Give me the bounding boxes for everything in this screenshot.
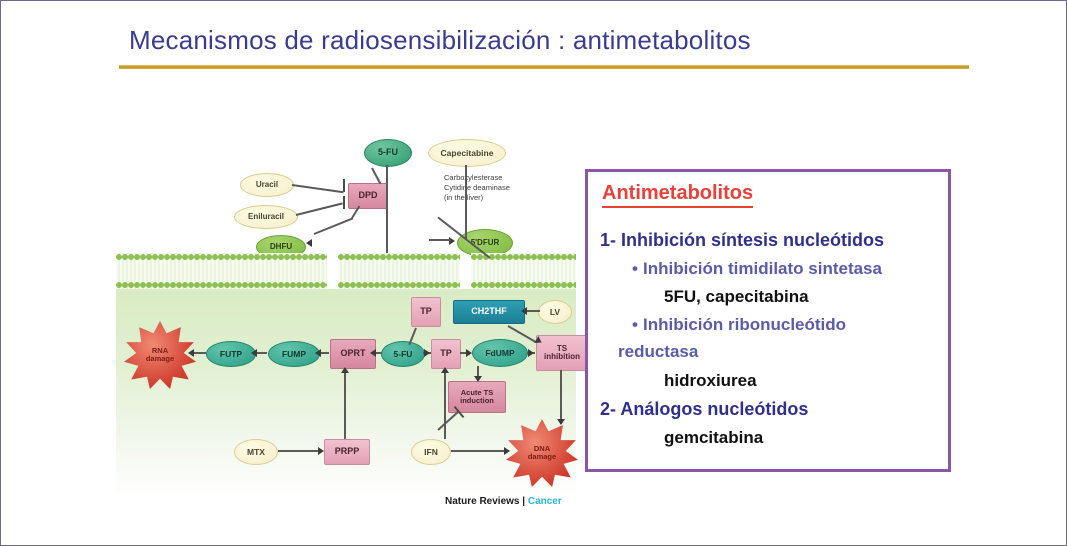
enzyme-note: Carboxylesterase Cytidine deaminase (in … [444,173,564,203]
node-lv: LV [538,300,572,324]
panel-line-6: hidroxiurea [664,371,757,391]
node-5fu-intracellular: 5-FU [381,341,425,367]
credit-journal: Cancer [528,496,562,507]
node-uracil: Uracil [240,173,294,197]
panel-line-1: 1- Inhibición síntesis nucleótidos [600,230,884,251]
membrane-segment-middle [338,253,460,289]
page-title: Mecanismos de radiosensibilización : ant… [129,25,751,56]
panel-line-4-text: Inhibición ribonucleótido [643,315,846,334]
node-ts-inhibition: TS inhibition [536,335,588,371]
cytoplasm-fade [116,461,576,499]
node-futp: FUTP [206,341,256,367]
panel-line-7: 2- Análogos nucleótidos [600,399,808,420]
node-fdump: FdUMP [472,339,528,367]
node-mtx: MTX [234,439,278,465]
slide-canvas: Mecanismos de radiosensibilización : ant… [0,0,1067,546]
panel-line-2-text: Inhibición timidilato sintetasa [643,259,882,278]
extracellular-space [116,81,576,253]
node-5fu-extracellular: 5-FU [364,139,412,167]
node-capecitabine: Capecitabine [428,139,506,167]
node-tp-mid: TP [431,339,461,369]
node-dpd: DPD [348,183,388,209]
node-eniluracil: Eniluracil [234,205,298,229]
node-ch2thf: CH2THF [453,300,525,324]
bullet-icon: • [632,259,643,279]
credit-publisher: Nature Reviews | [445,496,528,507]
bullet-icon: • [632,315,643,335]
panel-line-3: 5FU, capecitabina [664,287,809,307]
node-prpp: PRPP [324,439,370,465]
membrane-segment-left [116,253,327,289]
title-divider [119,65,969,69]
panel-line-2: •Inhibición timidilato sintetasa [632,259,882,279]
panel-line-8: gemcitabina [664,428,763,448]
panel-line-5: reductasa [618,342,698,362]
membrane-segment-right [471,253,576,289]
panel-heading: Antimetabolitos [602,182,753,208]
node-tp-upper: TP [411,297,441,327]
node-fump: FUMP [268,341,320,367]
panel-line-4: •Inhibición ribonucleótido [632,315,846,335]
pathway-diagram: 5-FU Capecitabine Uracil Eniluracil DHFU… [116,81,576,511]
figure-credit: Nature Reviews | Cancer [445,496,562,507]
node-ifn: IFN [411,439,451,465]
antimetabolites-panel: Antimetabolitos 1- Inhibición síntesis n… [585,169,951,472]
